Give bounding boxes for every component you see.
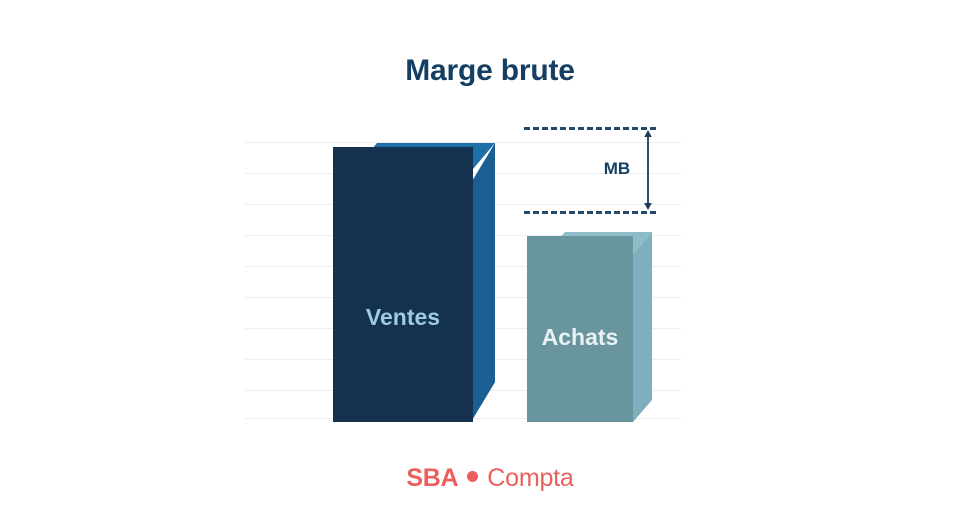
bar-achats-side-face [633,232,652,422]
bar-ventes-side-face [471,143,495,422]
page-title: Marge brute [0,52,980,90]
brand-logo-primary: SBA [406,464,458,492]
plot-area: Ventes Achats [245,110,681,422]
bar-ventes-front-face [333,147,473,422]
bar-ventes-label: Ventes [333,304,473,331]
brand-dot-icon [467,471,478,482]
brand-logo: SBACompta [0,462,980,494]
bar-achats[interactable]: Achats [527,232,633,422]
chart-canvas: Marge brute Ventes Achats MB [0,0,980,515]
brand-logo-secondary: Compta [487,464,573,492]
bar-ventes[interactable]: Ventes [333,143,473,422]
bar-achats-label: Achats [527,324,633,351]
